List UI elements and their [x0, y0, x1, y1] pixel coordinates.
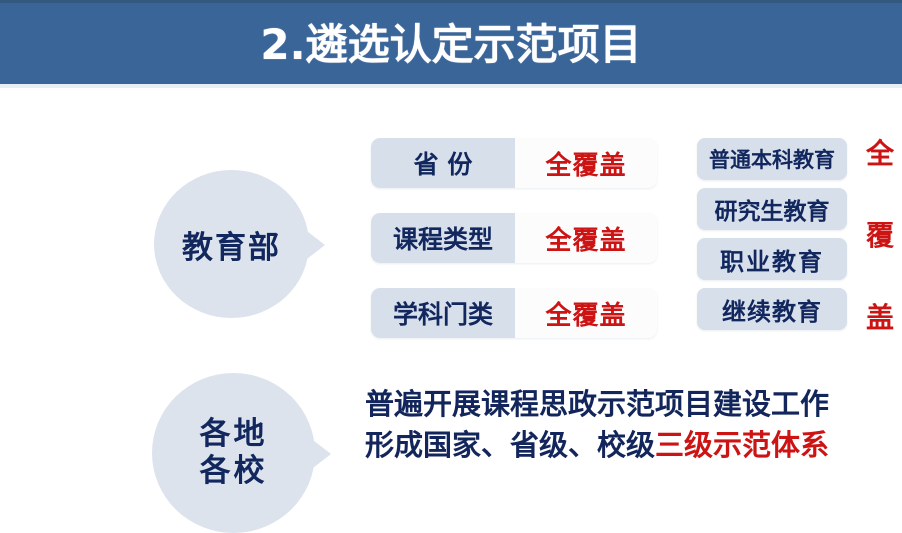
education-type-label: 继续教育 [722, 292, 822, 327]
bubble-local-label-line2: 各校 [200, 453, 268, 490]
coverage-row-province: 省 份 全覆盖 [371, 138, 657, 188]
title-banner: 2.遴选认定示范项目 [0, 0, 902, 84]
bubble-ministry: 教育部 [154, 170, 309, 318]
education-type-graduate: 研究生教育 [697, 188, 847, 230]
coverage-row-label: 课程类型 [371, 213, 515, 263]
coverage-row-label: 省 份 [371, 138, 515, 188]
education-type-label: 普通本科教育 [709, 144, 835, 174]
education-type-label: 职业教育 [720, 242, 824, 277]
coverage-row-value: 全覆盖 [515, 288, 657, 338]
vertical-coverage-char-3: 盖 [866, 304, 894, 332]
bottom-statement-line-2-highlight: 三级示范体系 [655, 428, 829, 462]
education-type-undergraduate: 普通本科教育 [697, 138, 847, 180]
coverage-row-label: 学科门类 [371, 288, 515, 338]
bubble-local: 各地 各校 [152, 373, 315, 533]
bottom-statement-line-2: 形成国家、省级、校级三级示范体系 [365, 425, 900, 466]
coverage-row-value: 全覆盖 [515, 213, 657, 263]
vertical-coverage-label: 全 覆 盖 [861, 140, 899, 332]
bottom-statement-line-1: 普遍开展课程思政示范项目建设工作 [365, 384, 900, 425]
coverage-row-course-type: 课程类型 全覆盖 [371, 213, 657, 263]
coverage-row-discipline: 学科门类 全覆盖 [371, 288, 657, 338]
bubble-local-label-line1: 各地 [200, 416, 268, 453]
bubble-ministry-label: 教育部 [182, 222, 281, 267]
bottom-statement: 普遍开展课程思政示范项目建设工作 形成国家、省级、校级三级示范体系 [365, 384, 900, 466]
education-type-label: 研究生教育 [715, 192, 830, 226]
coverage-row-value: 全覆盖 [515, 138, 657, 188]
education-type-continuing: 继续教育 [697, 288, 847, 330]
vertical-coverage-char-1: 全 [866, 140, 894, 168]
education-type-vocational: 职业教育 [697, 238, 847, 280]
vertical-coverage-char-2: 覆 [866, 222, 894, 250]
page-title: 2.遴选认定示范项目 [260, 24, 641, 66]
slide-body: 教育部 各地 各校 省 份 全覆盖 课程类型 全覆盖 学科门类 全覆盖 普通本科… [0, 88, 902, 529]
bottom-statement-line-2-prefix: 形成国家、省级、校级 [365, 428, 655, 462]
